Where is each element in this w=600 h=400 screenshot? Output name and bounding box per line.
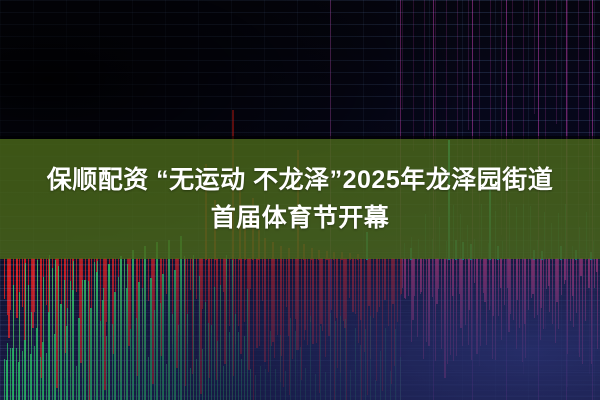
news-thumbnail: 保顺配资 “无运动 不龙泽”2025年龙泽园街道 首届体育节开幕 <box>0 0 600 400</box>
headline-banner: 保顺配资 “无运动 不龙泽”2025年龙泽园街道 首届体育节开幕 <box>0 139 600 259</box>
headline-line-1: 保顺配资 “无运动 不龙泽”2025年龙泽园街道 <box>47 163 554 197</box>
headline-line-2: 首届体育节开幕 <box>211 201 390 235</box>
